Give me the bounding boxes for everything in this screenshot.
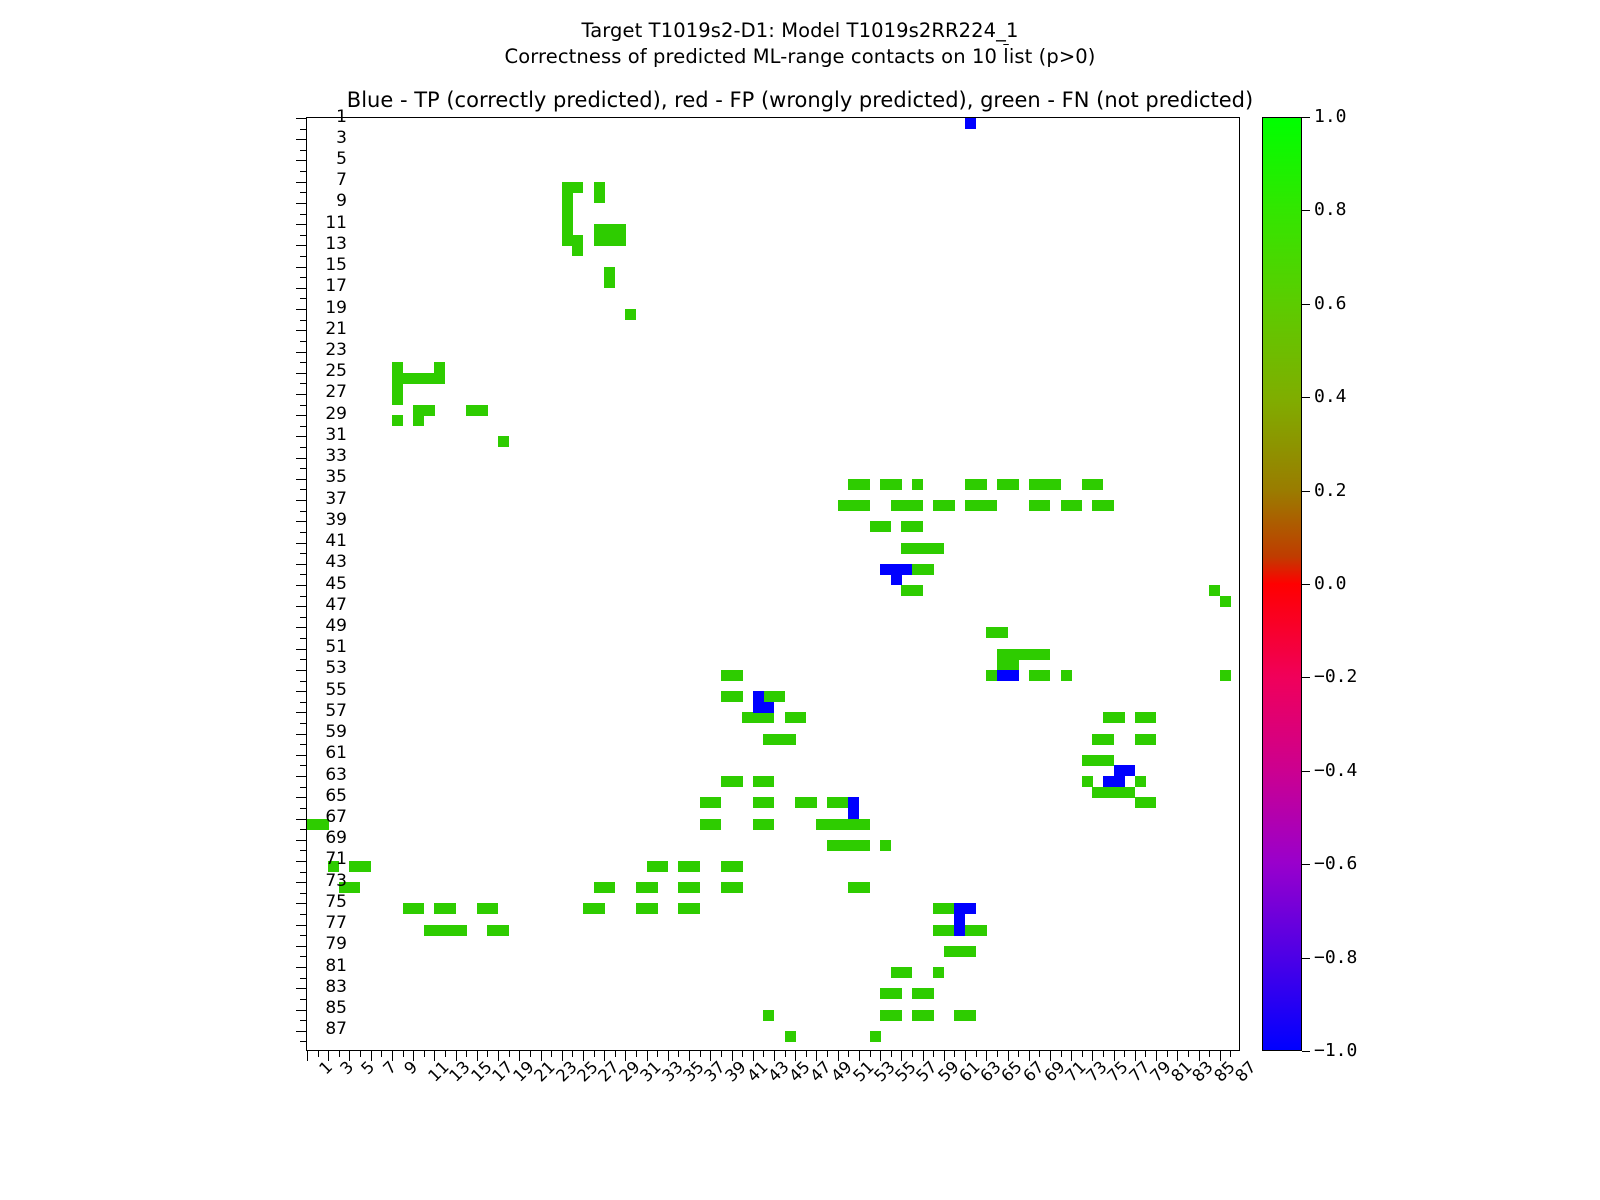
contact-cell-fn xyxy=(933,925,944,936)
x-axis-tick xyxy=(1188,1050,1189,1057)
contact-cell-fn xyxy=(912,479,923,490)
contact-cell-fn xyxy=(445,925,456,936)
contact-cell-fn xyxy=(1092,734,1103,745)
y-axis-label: 77 xyxy=(277,915,347,932)
x-axis-tick xyxy=(891,1050,892,1057)
contact-cell-fn xyxy=(965,1010,976,1021)
contact-cell-fn xyxy=(880,840,891,851)
x-axis-tick xyxy=(519,1050,520,1061)
contact-cell-fn xyxy=(1124,787,1135,798)
contact-cell-fn xyxy=(1061,670,1072,681)
x-axis-tick xyxy=(339,1050,340,1057)
contact-cell-fn xyxy=(657,861,668,872)
colorbar-tick xyxy=(1302,677,1310,678)
contact-cell-fn xyxy=(965,479,976,490)
x-axis-tick xyxy=(1082,1050,1083,1057)
contact-cell-fn xyxy=(1029,649,1040,660)
contact-cell-fn xyxy=(859,819,870,830)
x-axis-tick xyxy=(965,1050,966,1061)
contact-cell-fn xyxy=(1039,500,1050,511)
contact-cell-fn xyxy=(880,1010,891,1021)
x-axis-tick xyxy=(700,1050,701,1057)
contact-cell-fn xyxy=(572,235,583,246)
contact-cell-fn xyxy=(594,903,605,914)
contact-cell-fn xyxy=(923,564,934,575)
x-axis-tick xyxy=(710,1050,711,1061)
contact-cell-fn xyxy=(986,500,997,511)
contact-cell-fn xyxy=(933,500,944,511)
contact-cell-fn xyxy=(912,543,923,554)
contact-cell-fn xyxy=(912,500,923,511)
contact-cell-fn xyxy=(827,819,838,830)
contact-cell-fn xyxy=(1209,585,1220,596)
y-axis-label: 59 xyxy=(277,724,347,741)
contact-cell-fn xyxy=(859,840,870,851)
contact-cell-fn xyxy=(763,712,774,723)
contact-cell-fn xyxy=(732,670,743,681)
x-axis-tick xyxy=(413,1050,414,1061)
contact-cell-fn xyxy=(827,797,838,808)
contact-cell-tp xyxy=(954,925,965,936)
contact-cell-fn xyxy=(870,521,881,532)
contact-cell-fn xyxy=(360,861,371,872)
contact-cell-tp xyxy=(763,702,774,713)
y-axis-label: 27 xyxy=(277,384,347,401)
y-axis-label: 79 xyxy=(277,936,347,953)
contact-cell-tp xyxy=(848,808,859,819)
x-axis-tick xyxy=(349,1050,350,1061)
y-axis-label: 35 xyxy=(277,469,347,486)
x-axis-tick xyxy=(742,1050,743,1057)
colorbar-tick-label: 1.0 xyxy=(1314,108,1347,126)
y-axis-label: 29 xyxy=(277,406,347,423)
x-axis-tick xyxy=(763,1050,764,1057)
contact-cell-fn xyxy=(763,797,774,808)
x-axis-tick xyxy=(954,1050,955,1057)
contact-cell-fn xyxy=(774,691,785,702)
contact-cell-fn xyxy=(498,436,509,447)
contact-cell-fn xyxy=(901,500,912,511)
contact-cell-tp xyxy=(880,564,891,575)
contact-cell-fn xyxy=(392,383,403,394)
x-axis-tick xyxy=(318,1050,319,1057)
contact-cell-tp xyxy=(997,670,1008,681)
contact-cell-fn xyxy=(732,776,743,787)
contact-cell-fn xyxy=(721,691,732,702)
contact-cell-fn xyxy=(838,840,849,851)
contact-cell-fn xyxy=(594,192,605,203)
colorbar-tick xyxy=(1302,491,1310,492)
x-axis-tick xyxy=(1209,1050,1210,1057)
x-axis-tick xyxy=(774,1050,775,1061)
contact-cell-tp xyxy=(954,914,965,925)
y-axis-label: 17 xyxy=(277,278,347,295)
colorbar-tick-label: 0.0 xyxy=(1314,575,1347,593)
contact-cell-fn xyxy=(647,861,658,872)
contact-cell-fn xyxy=(466,405,477,416)
contact-cell-fn xyxy=(901,521,912,532)
contact-cell-tp xyxy=(1114,765,1125,776)
y-axis-label: 55 xyxy=(277,682,347,699)
contact-cell-fn xyxy=(944,946,955,957)
contact-cell-fn xyxy=(689,903,700,914)
contact-cell-fn xyxy=(1103,500,1114,511)
y-axis-label: 65 xyxy=(277,788,347,805)
colorbar-gradient xyxy=(1262,117,1302,1051)
colorbar-tick xyxy=(1302,864,1310,865)
contact-cell-fn xyxy=(912,1010,923,1021)
contact-cell-fn xyxy=(721,776,732,787)
y-axis-label: 47 xyxy=(277,597,347,614)
x-axis-tick xyxy=(657,1050,658,1057)
y-axis-label: 51 xyxy=(277,639,347,656)
contact-cell-fn xyxy=(1029,670,1040,681)
x-axis-tick xyxy=(604,1050,605,1061)
y-axis-label: 71 xyxy=(277,851,347,868)
contact-cell-fn xyxy=(1135,712,1146,723)
contact-cell-tp xyxy=(753,702,764,713)
contact-cell-fn xyxy=(763,819,774,830)
title-line-2-suffix: ist (p>0) xyxy=(1009,45,1096,68)
contact-cell-fn xyxy=(647,882,658,893)
y-axis-label: 31 xyxy=(277,427,347,444)
contact-cell-fn xyxy=(1039,670,1050,681)
contact-cell-fn xyxy=(1039,649,1050,660)
contact-cell-fn xyxy=(604,882,615,893)
contact-cell-fn xyxy=(392,373,403,384)
x-axis-tick xyxy=(1220,1050,1221,1061)
contact-cell-fn xyxy=(710,797,721,808)
contact-cell-fn xyxy=(732,691,743,702)
y-axis-label: 41 xyxy=(277,533,347,550)
x-axis-tick xyxy=(424,1050,425,1057)
contact-cell-fn xyxy=(413,903,424,914)
contact-cell-fn xyxy=(562,235,573,246)
contact-cell-fn xyxy=(753,819,764,830)
contact-cell-fn xyxy=(1135,797,1146,808)
colorbar-tick xyxy=(1302,210,1310,211)
x-axis-tick xyxy=(477,1050,478,1061)
x-axis-tick xyxy=(636,1050,637,1057)
colorbar-tick-label: 0.2 xyxy=(1314,482,1347,500)
x-axis-tick xyxy=(434,1050,435,1061)
contact-cell-fn xyxy=(604,235,615,246)
contact-cell-fn xyxy=(445,903,456,914)
x-axis-tick xyxy=(307,1050,308,1061)
contact-cell-fn xyxy=(403,373,414,384)
x-axis-label: 5 xyxy=(359,1058,378,1077)
colorbar-tick-label: −1.0 xyxy=(1314,1042,1357,1060)
contact-cell-tp xyxy=(891,574,902,585)
colorbar-tick xyxy=(1302,117,1310,118)
y-axis-label: 9 xyxy=(277,193,347,210)
contact-cell-fn xyxy=(647,903,658,914)
y-axis-label: 37 xyxy=(277,491,347,508)
x-axis-tick xyxy=(1177,1050,1178,1061)
x-axis-tick xyxy=(466,1050,467,1057)
contact-cell-fn xyxy=(997,659,1008,670)
x-axis-label: 87 xyxy=(1232,1058,1259,1085)
x-axis-tick xyxy=(562,1050,563,1061)
contact-cell-fn xyxy=(678,882,689,893)
contact-cell-fn xyxy=(763,691,774,702)
contact-cell-tp xyxy=(965,903,976,914)
x-axis-tick xyxy=(1167,1050,1168,1057)
contact-cell-fn xyxy=(413,415,424,426)
contact-cell-fn xyxy=(933,903,944,914)
x-axis-tick xyxy=(880,1050,881,1061)
y-axis-label: 81 xyxy=(277,958,347,975)
x-axis-tick xyxy=(1071,1050,1072,1061)
y-axis-label: 11 xyxy=(277,215,347,232)
y-axis-label: 23 xyxy=(277,342,347,359)
contact-cell-fn xyxy=(700,819,711,830)
contact-cell-fn xyxy=(763,776,774,787)
y-axis-tick xyxy=(300,1041,307,1042)
contact-cell-fn xyxy=(604,277,615,288)
contact-cell-fn xyxy=(880,521,891,532)
figure-title-block: Target T1019s2-D1: Model T1019s2RR224_1 … xyxy=(0,18,1600,70)
contact-cell-fn xyxy=(965,946,976,957)
x-axis-tick xyxy=(976,1050,977,1057)
y-axis-label: 1 xyxy=(277,109,347,126)
contact-cell-fn xyxy=(986,627,997,638)
contact-cell-fn xyxy=(562,224,573,235)
contact-cell-fn xyxy=(997,649,1008,660)
contact-cell-fn xyxy=(1039,479,1050,490)
y-axis-label: 67 xyxy=(277,809,347,826)
x-axis-tick xyxy=(1018,1050,1019,1057)
y-axis-label: 21 xyxy=(277,321,347,338)
contact-cell-fn xyxy=(806,797,817,808)
colorbar-tick-label: −0.2 xyxy=(1314,668,1357,686)
y-axis-label: 13 xyxy=(277,236,347,253)
contact-cell-fn xyxy=(434,925,445,936)
contact-cell-fn xyxy=(880,988,891,999)
contact-cell-fn xyxy=(349,861,360,872)
x-axis-tick xyxy=(1029,1050,1030,1061)
contact-cell-tp xyxy=(891,564,902,575)
x-axis-tick xyxy=(689,1050,690,1061)
colorbar-tick-label: 0.8 xyxy=(1314,201,1347,219)
x-axis-tick xyxy=(498,1050,499,1061)
contact-cell-fn xyxy=(785,734,796,745)
contact-cell-fn xyxy=(901,543,912,554)
contact-cell-tp xyxy=(1124,765,1135,776)
contact-cell-fn xyxy=(838,797,849,808)
contact-cell-fn xyxy=(859,500,870,511)
y-axis-label: 43 xyxy=(277,554,347,571)
y-axis-label: 45 xyxy=(277,576,347,593)
x-axis-tick xyxy=(859,1050,860,1061)
x-axis-label: 1 xyxy=(316,1058,335,1077)
contact-cell-fn xyxy=(933,543,944,554)
y-axis-label: 73 xyxy=(277,873,347,890)
contact-cell-fn xyxy=(891,1010,902,1021)
contact-cell-fn xyxy=(732,861,743,872)
contact-cell-fn xyxy=(732,882,743,893)
contact-cell-fn xyxy=(859,479,870,490)
contact-cell-fn xyxy=(997,627,1008,638)
contact-cell-fn xyxy=(1029,500,1040,511)
colorbar-tick-label: −0.4 xyxy=(1314,762,1357,780)
contact-cell-fn xyxy=(1103,755,1114,766)
contact-cell-fn xyxy=(403,903,414,914)
contact-cell-fn xyxy=(413,373,424,384)
contact-cell-fn xyxy=(838,500,849,511)
contact-cell-fn xyxy=(700,797,711,808)
contact-cell-fn xyxy=(1082,755,1093,766)
y-axis-label: 19 xyxy=(277,300,347,317)
contact-cell-fn xyxy=(1092,755,1103,766)
contact-cell-fn xyxy=(1008,649,1019,660)
x-axis-label: 7 xyxy=(380,1058,399,1077)
y-axis-label: 61 xyxy=(277,745,347,762)
x-axis-tick xyxy=(328,1050,329,1061)
contact-cell-fn xyxy=(1145,712,1156,723)
contact-cell-tp xyxy=(848,797,859,808)
contact-cell-layer xyxy=(307,118,1239,1050)
x-axis-tick xyxy=(1103,1050,1104,1057)
contact-cell-fn xyxy=(562,192,573,203)
contact-cell-fn xyxy=(848,819,859,830)
x-axis-tick xyxy=(933,1050,934,1057)
contact-cell-fn xyxy=(912,521,923,532)
x-axis-tick xyxy=(360,1050,361,1057)
x-axis-tick xyxy=(371,1050,372,1061)
contact-cell-fn xyxy=(1220,596,1231,607)
contact-cell-fn xyxy=(1103,734,1114,745)
contact-cell-fn xyxy=(891,988,902,999)
contact-cell-fn xyxy=(487,925,498,936)
contact-cell-fn xyxy=(1029,479,1040,490)
contact-cell-fn xyxy=(742,712,753,723)
contact-cell-fn xyxy=(944,903,955,914)
x-axis-label: 9 xyxy=(401,1058,420,1077)
contact-cell-fn xyxy=(870,1031,881,1042)
contact-cell-fn xyxy=(795,797,806,808)
x-axis-tick xyxy=(678,1050,679,1057)
contact-cell-fn xyxy=(954,1010,965,1021)
contact-cell-fn xyxy=(594,235,605,246)
x-axis-tick xyxy=(509,1050,510,1057)
title-line-2-prefix: Correctness of predicted ML-range contac… xyxy=(505,45,1004,68)
contact-cell-fn xyxy=(477,405,488,416)
colorbar-tick xyxy=(1302,1051,1310,1052)
contact-cell-fn xyxy=(594,882,605,893)
contact-cell-fn xyxy=(976,479,987,490)
y-axis-label: 39 xyxy=(277,512,347,529)
x-axis-tick xyxy=(381,1050,382,1057)
contact-cell-fn xyxy=(604,267,615,278)
x-axis-tick xyxy=(753,1050,754,1061)
contact-cell-fn xyxy=(965,500,976,511)
x-axis-tick xyxy=(487,1050,488,1057)
contact-cell-fn xyxy=(1050,479,1061,490)
x-axis-tick xyxy=(1050,1050,1051,1061)
x-axis-tick xyxy=(1124,1050,1125,1057)
contact-cell-fn xyxy=(721,861,732,872)
colorbar-tick-label: −0.6 xyxy=(1314,855,1357,873)
contact-cell-fn xyxy=(625,309,636,320)
contact-cell-fn xyxy=(891,967,902,978)
contact-cell-fn xyxy=(1135,734,1146,745)
contact-cell-fn xyxy=(349,882,360,893)
x-axis-tick xyxy=(870,1050,871,1057)
contact-cell-tp xyxy=(954,903,965,914)
contact-cell-fn xyxy=(392,415,403,426)
y-axis-label: 49 xyxy=(277,618,347,635)
x-axis-tick xyxy=(912,1050,913,1057)
contact-cell-fn xyxy=(1114,787,1125,798)
contact-cell-fn xyxy=(710,819,721,830)
contact-cell-fn xyxy=(572,245,583,256)
contact-cell-fn xyxy=(678,903,689,914)
contact-cell-fn xyxy=(434,362,445,373)
contact-cell-fn xyxy=(976,500,987,511)
contact-cell-fn xyxy=(636,882,647,893)
contact-cell-fn xyxy=(827,840,838,851)
x-axis-tick xyxy=(594,1050,595,1057)
contact-cell-fn xyxy=(891,500,902,511)
contact-cell-fn xyxy=(1135,776,1146,787)
contact-cell-fn xyxy=(1008,659,1019,670)
colorbar-tick-label: 0.4 xyxy=(1314,388,1347,406)
contact-cell-fn xyxy=(424,373,435,384)
legend-caption: Blue - TP (correctly predicted), red - F… xyxy=(0,88,1600,112)
contact-cell-fn xyxy=(1018,649,1029,660)
colorbar-tick xyxy=(1302,304,1310,305)
contact-cell-fn xyxy=(1092,479,1103,490)
contact-cell-fn xyxy=(912,564,923,575)
contact-cell-fn xyxy=(615,224,626,235)
contact-cell-fn xyxy=(880,479,891,490)
contact-cell-fn xyxy=(1145,734,1156,745)
y-axis-label: 87 xyxy=(277,1021,347,1038)
colorbar-tick-label: 0.6 xyxy=(1314,295,1347,313)
y-axis-label: 33 xyxy=(277,448,347,465)
contact-cell-fn xyxy=(912,585,923,596)
contact-cell-fn xyxy=(848,500,859,511)
contact-cell-fn xyxy=(487,903,498,914)
x-axis-tick xyxy=(668,1050,669,1061)
contact-cell-fn xyxy=(954,946,965,957)
contact-cell-fn xyxy=(774,734,785,745)
y-axis-label: 75 xyxy=(277,894,347,911)
contact-cell-fn xyxy=(933,967,944,978)
x-axis-tick xyxy=(901,1050,902,1061)
colorbar-tick-label: −0.8 xyxy=(1314,949,1357,967)
contact-cell-fn xyxy=(678,861,689,872)
colorbar-tick xyxy=(1302,958,1310,959)
contact-cell-fn xyxy=(615,235,626,246)
contact-cell-fn xyxy=(583,903,594,914)
y-axis-label: 57 xyxy=(277,703,347,720)
x-axis-tick xyxy=(997,1050,998,1057)
contact-cell-fn xyxy=(636,903,647,914)
x-axis-tick xyxy=(806,1050,807,1057)
x-axis-tick xyxy=(530,1050,531,1057)
contact-cell-fn xyxy=(434,903,445,914)
contact-cell-tp xyxy=(901,564,912,575)
title-line-1: Target T1019s2-D1: Model T1019s2RR224_1 xyxy=(0,18,1600,44)
contact-cell-fn xyxy=(572,182,583,193)
x-axis-tick xyxy=(986,1050,987,1061)
contact-cell-fn xyxy=(923,1010,934,1021)
colorbar-tick xyxy=(1302,397,1310,398)
contact-cell-fn xyxy=(689,882,700,893)
contact-cell-tp xyxy=(1008,670,1019,681)
